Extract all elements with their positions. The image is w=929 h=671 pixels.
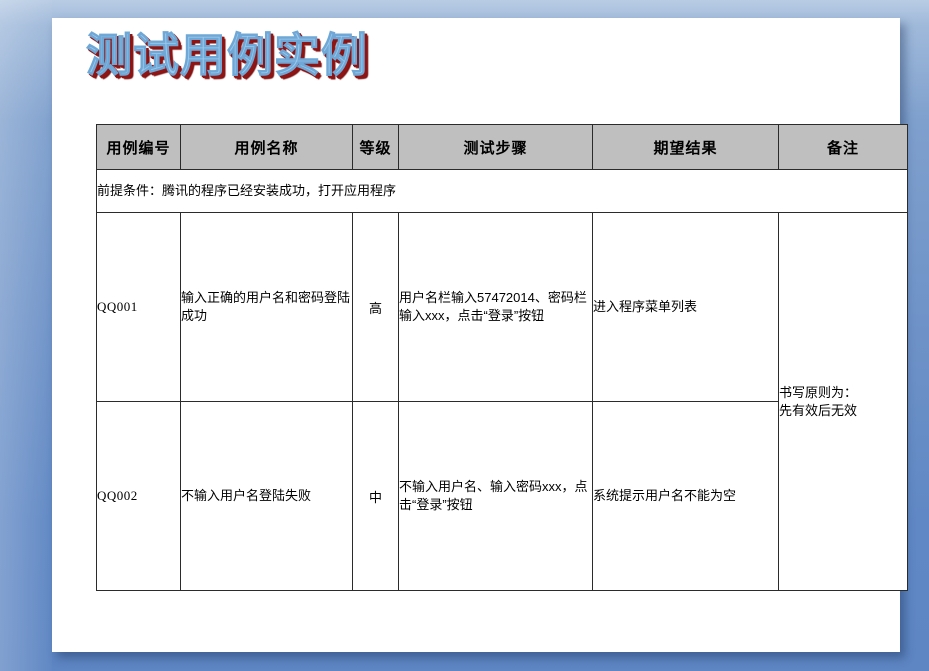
cell-level: 高: [353, 213, 399, 402]
column-header-level: 等级: [353, 125, 399, 170]
column-header-remark: 备注: [779, 125, 908, 170]
cell-case-id: QQ001: [97, 213, 181, 402]
cell-case-name: 不输入用户名登陆失败: [181, 402, 353, 591]
slide-canvas: 测试用例实例 用例编号 用例名称 等级 测试步骤 期望结果 备注: [52, 18, 900, 652]
test-case-table: 用例编号 用例名称 等级 测试步骤 期望结果 备注 前提条件：腾讯的程序已经安装…: [96, 124, 908, 591]
cell-expected-result: 进入程序菜单列表: [593, 213, 779, 402]
column-header-case-id: 用例编号: [97, 125, 181, 170]
column-header-case-name: 用例名称: [181, 125, 353, 170]
premise-row: 前提条件：腾讯的程序已经安装成功，打开应用程序: [97, 170, 908, 213]
cell-case-id: QQ002: [97, 402, 181, 591]
cell-test-steps: 用户名栏输入57472014、密码栏输入xxx，点击“登录”按钮: [399, 213, 593, 402]
page-title: 测试用例实例: [86, 28, 368, 83]
cell-expected-result: 系统提示用户名不能为空: [593, 402, 779, 591]
cell-case-name: 输入正确的用户名和密码登陆成功: [181, 213, 353, 402]
column-header-test-steps: 测试步骤: [399, 125, 593, 170]
cell-remark: 书写原则为： 先有效后无效: [779, 213, 908, 591]
table-row: QQ001 输入正确的用户名和密码登陆成功 高 用户名栏输入57472014、密…: [97, 213, 908, 402]
cell-level: 中: [353, 402, 399, 591]
cell-test-steps: 不输入用户名、输入密码xxx，点击“登录”按钮: [399, 402, 593, 591]
table-header-row: 用例编号 用例名称 等级 测试步骤 期望结果 备注: [97, 125, 908, 170]
column-header-expected: 期望结果: [593, 125, 779, 170]
premise-text: 前提条件：腾讯的程序已经安装成功，打开应用程序: [97, 170, 908, 213]
slide-background: 测试用例实例 用例编号 用例名称 等级 测试步骤 期望结果 备注: [0, 0, 929, 671]
